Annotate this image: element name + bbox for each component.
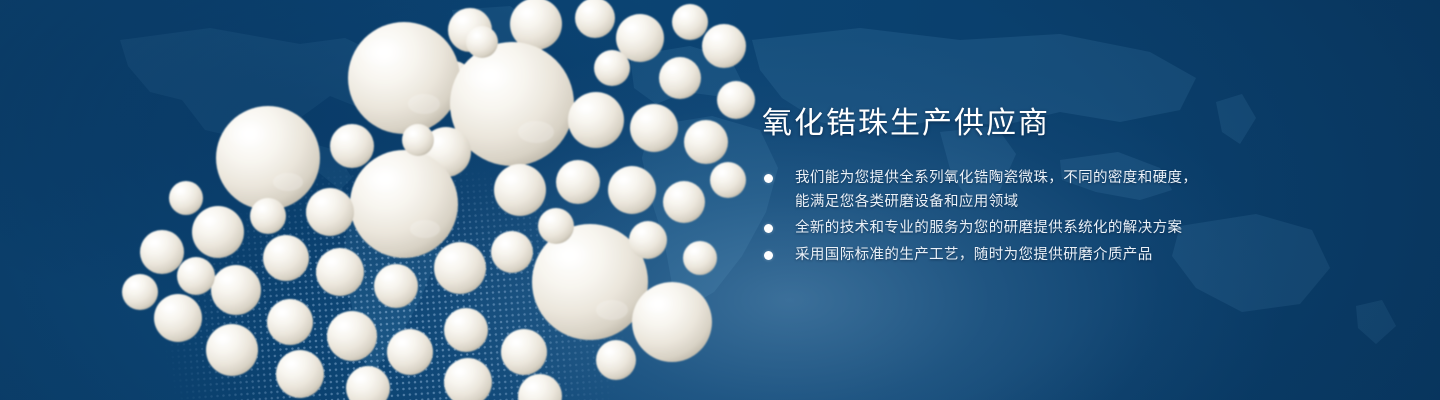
list-item-line: 全新的技术和专业的服务为您的研磨提供系统化的解决方案 [795, 217, 1282, 241]
list-item-line: 能满足您各类研磨设备和应用领域 [795, 191, 1282, 215]
list-item-line: 我们能为您提供全系列氧化锆陶瓷微珠，不同的密度和硬度， [795, 167, 1282, 191]
feature-list: 我们能为您提供全系列氧化锆陶瓷微珠，不同的密度和硬度， 能满足您各类研磨设备和应… [762, 167, 1282, 267]
list-item: 全新的技术和专业的服务为您的研磨提供系统化的解决方案 [762, 217, 1282, 241]
page-title: 氧化锆珠生产供应商 [762, 104, 1282, 144]
list-item: 采用国际标准的生产工艺，随时为您提供研磨介质产品 [762, 244, 1282, 268]
hero-banner: 氧化锆珠生产供应商 我们能为您提供全系列氧化锆陶瓷微珠，不同的密度和硬度， 能满… [0, 0, 1440, 400]
bullet-dot-icon [764, 224, 773, 233]
bullet-dot-icon [764, 174, 773, 183]
bullet-dot-icon [764, 251, 773, 260]
list-item-line: 采用国际标准的生产工艺，随时为您提供研磨介质产品 [795, 244, 1282, 268]
banner-content: 氧化锆珠生产供应商 我们能为您提供全系列氧化锆陶瓷微珠，不同的密度和硬度， 能满… [762, 104, 1282, 267]
list-item: 我们能为您提供全系列氧化锆陶瓷微珠，不同的密度和硬度， 能满足您各类研磨设备和应… [762, 167, 1282, 214]
